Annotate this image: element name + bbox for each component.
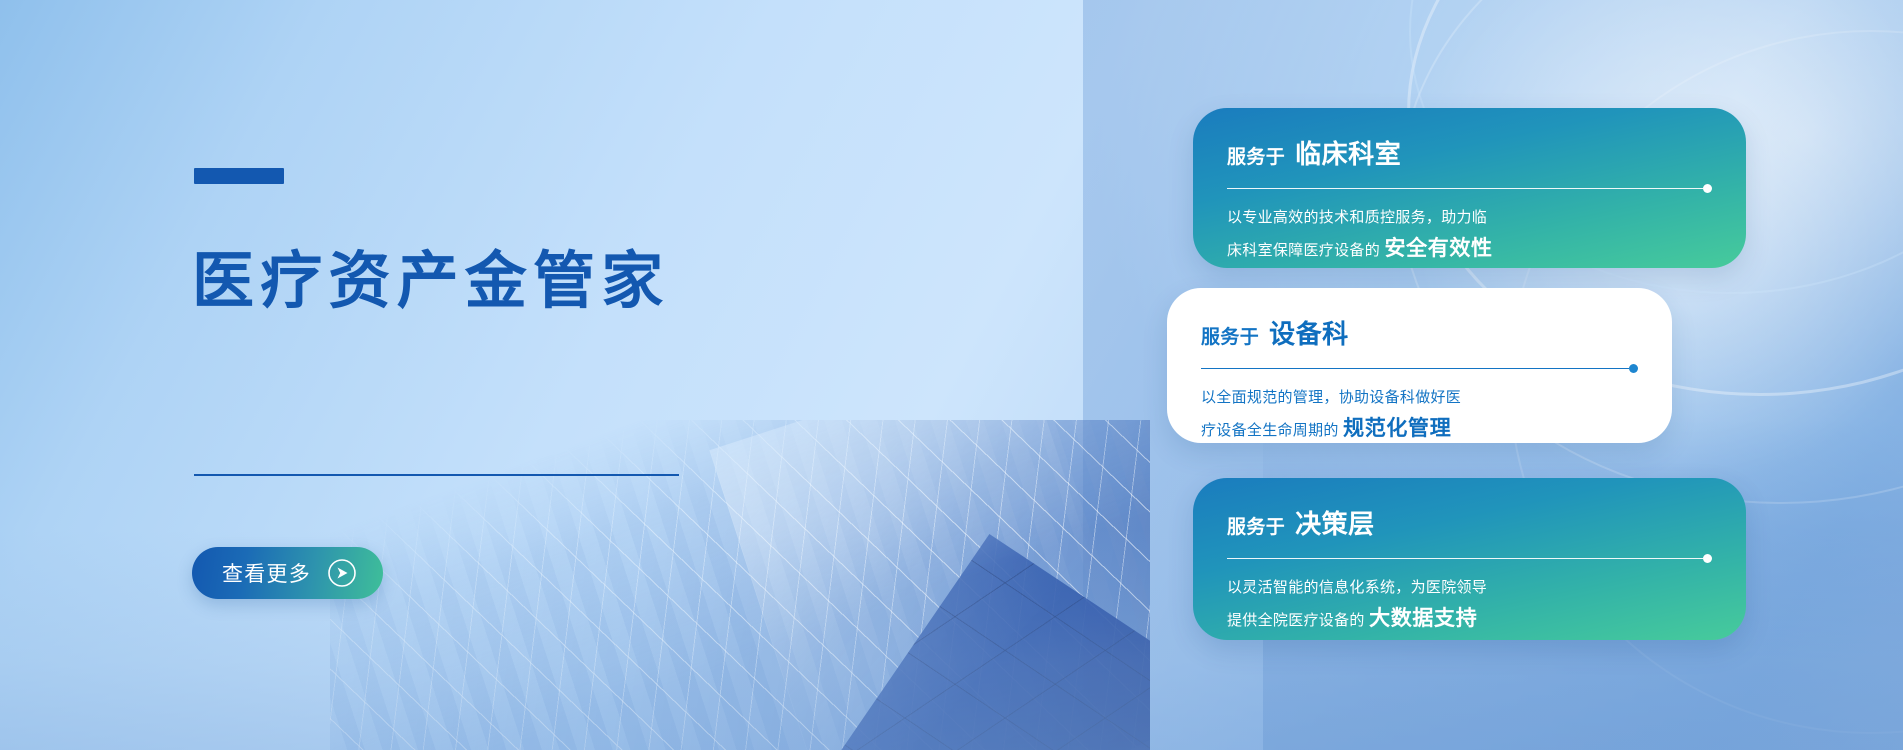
card-divider [1227, 184, 1712, 193]
card-divider-dot [1629, 364, 1638, 373]
card-prefix: 服务于 [1227, 142, 1285, 169]
card-body-line-1: 以专业高效的技术和质控服务，助力临 [1227, 205, 1712, 231]
card-divider [1201, 364, 1638, 373]
card-divider-dot [1703, 554, 1712, 563]
card-divider-dot [1703, 184, 1712, 193]
card-body-line-1: 以全面规范的管理，协助设备科做好医 [1201, 385, 1638, 411]
card-divider-line [1227, 558, 1703, 559]
card-body-line-2-normal: 提供全院医疗设备的 [1227, 612, 1365, 629]
card-divider [1227, 554, 1712, 563]
card-body: 以专业高效的技术和质控服务，助力临 床科室保障医疗设备的 安全有效性 [1227, 205, 1712, 267]
card-prefix: 服务于 [1201, 322, 1259, 349]
card-body-emphasis: 安全有效性 [1384, 237, 1492, 260]
card-body-line-1: 以灵活智能的信息化系统，为医院领导 [1227, 575, 1712, 601]
card-heading: 服务于 设备科 [1201, 314, 1638, 351]
card-body-line-2: 提供全院医疗设备的 大数据支持 [1227, 601, 1712, 637]
service-card-equipment[interactable]: 服务于 设备科 以全面规范的管理，协助设备科做好医 疗设备全生命周期的 规范化管… [1167, 288, 1672, 443]
card-body-line-2: 床科室保障医疗设备的 安全有效性 [1227, 231, 1712, 267]
card-divider-line [1227, 188, 1703, 189]
card-body-emphasis: 大数据支持 [1369, 607, 1477, 630]
card-body-line-2-normal: 床科室保障医疗设备的 [1227, 242, 1380, 259]
card-target: 决策层 [1295, 504, 1375, 541]
service-card-clinical[interactable]: 服务于 临床科室 以专业高效的技术和质控服务，助力临 床科室保障医疗设备的 安全… [1193, 108, 1746, 268]
service-card-list: 服务于 临床科室 以专业高效的技术和质控服务，助力临 床科室保障医疗设备的 安全… [0, 0, 1903, 750]
card-target: 临床科室 [1295, 134, 1401, 171]
card-prefix: 服务于 [1227, 512, 1285, 539]
card-body-emphasis: 规范化管理 [1343, 417, 1451, 440]
card-target: 设备科 [1269, 314, 1349, 351]
card-body-line-2-normal: 疗设备全生命周期的 [1201, 422, 1339, 439]
card-divider-line [1201, 368, 1629, 369]
service-card-decision[interactable]: 服务于 决策层 以灵活智能的信息化系统，为医院领导 提供全院医疗设备的 大数据支… [1193, 478, 1746, 640]
card-body: 以全面规范的管理，协助设备科做好医 疗设备全生命周期的 规范化管理 [1201, 385, 1638, 447]
card-heading: 服务于 临床科室 [1227, 134, 1712, 171]
hero-banner: 医疗资产金管家 查看更多 服务于 临床科室 以专业高效的技术和质控服务，助力临 [0, 0, 1903, 750]
card-heading: 服务于 决策层 [1227, 504, 1712, 541]
card-body: 以灵活智能的信息化系统，为医院领导 提供全院医疗设备的 大数据支持 [1227, 575, 1712, 637]
card-body-line-2: 疗设备全生命周期的 规范化管理 [1201, 411, 1638, 447]
